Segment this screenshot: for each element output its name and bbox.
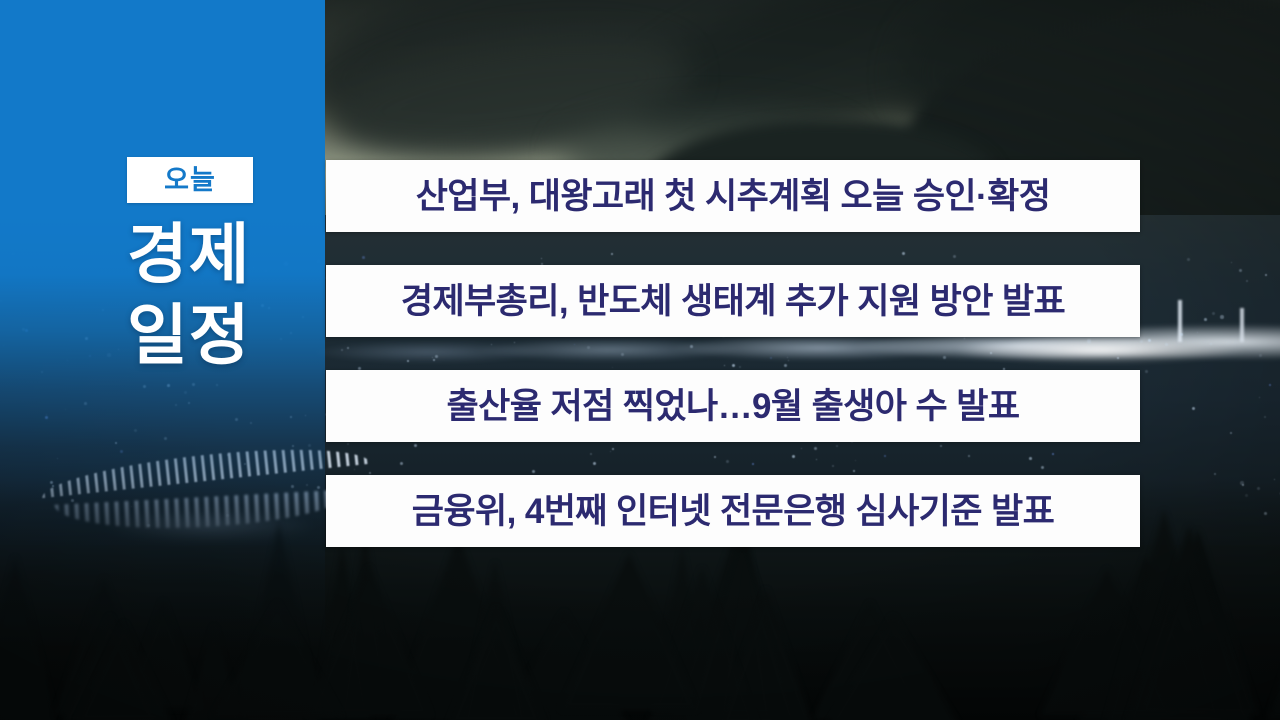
city-light-dot [1204,318,1207,321]
headline-text: 금융위, 4번째 인터넷 전문은행 심사기준 발표 [412,494,1054,529]
city-light-dot [1259,354,1262,357]
city-light-dot [1145,370,1148,373]
city-light-dot [1230,432,1232,434]
panel-title: 경제 일정 [127,214,250,375]
conifer-silhouette [1275,603,1280,708]
conifer-silhouette [826,615,960,720]
conifer-silhouette [1126,525,1252,720]
headline-text: 경제부총리, 반도체 생태계 추가 지원 방안 발표 [401,284,1065,319]
today-badge: 오늘 [127,157,253,203]
city-light-dot [1180,333,1183,336]
city-light-dot [1165,343,1168,346]
city-light-dot [1140,340,1143,343]
city-light-dot [1220,315,1224,319]
conifer-silhouette [560,553,698,710]
broadcast-lower-third-screen: 오늘 경제 일정 산업부, 대왕고래 첫 시추계획 오늘 승인·확정 경제부총리… [0,0,1280,720]
headline-list: 산업부, 대왕고래 첫 시추계획 오늘 승인·확정 경제부총리, 반도체 생태계… [326,160,1140,547]
headline-text: 산업부, 대왕고래 첫 시추계획 오늘 승인·확정 [416,179,1051,214]
headline-bar: 산업부, 대왕고래 첫 시추계획 오늘 승인·확정 [326,160,1140,232]
tower-light [1240,308,1244,342]
panel-title-line-1: 경제 [127,214,250,295]
panel-title-line-2: 일정 [127,295,250,376]
city-light-dot [1265,274,1267,276]
headline-bar: 금융위, 4번째 인터넷 전문은행 심사기준 발표 [326,475,1140,547]
headline-text: 출산율 저점 찍었나…9월 출생아 수 발표 [447,389,1020,424]
headline-bar: 경제부총리, 반도체 생태계 추가 지원 방안 발표 [326,265,1140,337]
conifer-silhouette [448,606,544,720]
city-light-dot [1187,258,1190,261]
today-badge-label: 오늘 [164,167,216,194]
headline-bar: 출산율 저점 찍었나…9월 출생아 수 발표 [326,370,1140,442]
